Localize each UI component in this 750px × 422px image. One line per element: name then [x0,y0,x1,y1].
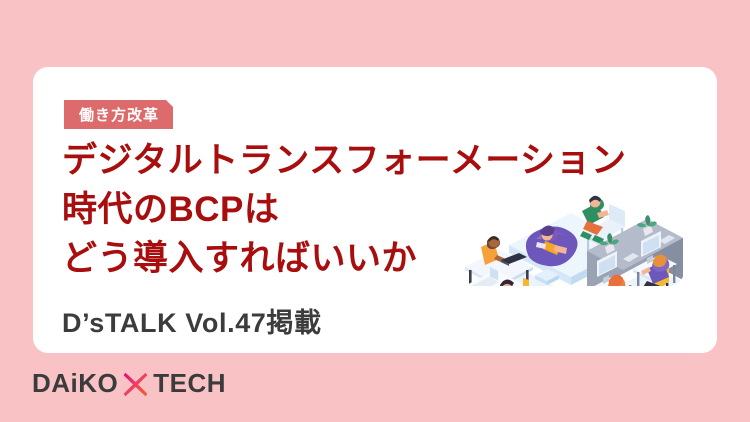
daiko-xtech-logo: DAiKO TECH [32,368,226,399]
category-badge: 働き方改革 [64,100,173,129]
logo-word-daiko: DAiKO [32,368,118,399]
headline-line-1: デジタルトランスフォーメーション [62,136,627,185]
subtitle: D’sTALK Vol.47掲載 [62,301,322,340]
headline: デジタルトランスフォーメーション 時代のBCPは どう導入すればいいか [62,136,627,283]
x-mark-icon [122,371,149,398]
headline-line-2: 時代のBCPは [62,185,627,234]
logo-word-tech: TECH [153,368,226,399]
category-badge-label: 働き方改革 [79,104,159,125]
headline-line-3: どう導入すればいいか [62,234,627,283]
banner: 働き方改革 デジタルトランスフォーメーション 時代のBCPは どう導入すればいい… [0,0,750,422]
